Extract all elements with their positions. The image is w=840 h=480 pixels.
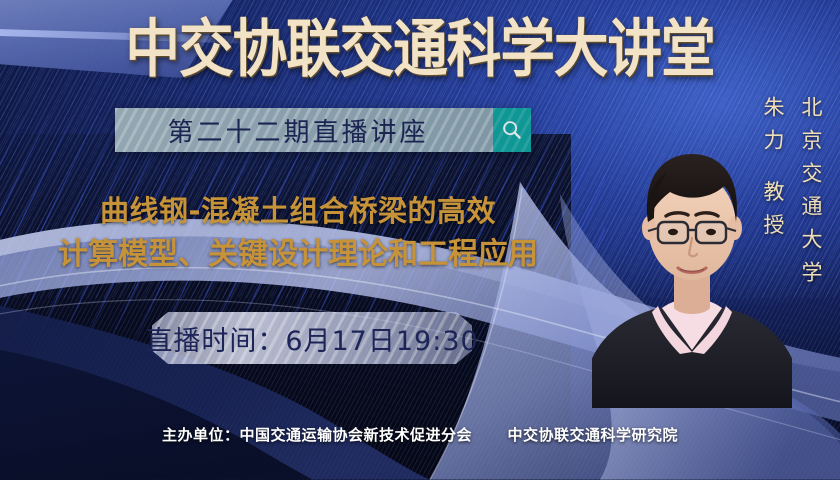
speaker-organization: 北京交通大学 bbox=[796, 96, 826, 294]
host-line: 主办单位：中国交通运输协会新技术促进分会 中交协联交通科学研究院 bbox=[0, 424, 840, 445]
lecture-title: 曲线钢-混凝土组合桥梁的高效 计算模型、关键设计理论和工程应用 bbox=[8, 190, 588, 276]
page-title: 中交协联交通科学大讲堂 bbox=[0, 14, 840, 87]
broadcast-time-badge: 直播时间：6月17日19:30 bbox=[152, 312, 472, 364]
poster-canvas: 中交协联交通科学大讲堂 第二十二期直播讲座 曲线钢-混凝土组合桥梁的高效 计算模… bbox=[0, 0, 840, 480]
lecture-title-line1: 曲线钢-混凝土组合桥梁的高效 bbox=[8, 190, 588, 233]
lecture-title-line2: 计算模型、关键设计理论和工程应用 bbox=[8, 233, 588, 276]
broadcast-time-label: 直播时间：6月17日19:30 bbox=[145, 319, 478, 358]
host-line-suffix: 中交协联交通科学研究院 bbox=[507, 426, 678, 444]
search-button[interactable] bbox=[493, 108, 531, 152]
episode-banner-label: 第二十二期直播讲座 bbox=[167, 112, 428, 149]
host-line-prefix: 主办单位：中国交通运输协会新技术促进分会 bbox=[162, 426, 472, 444]
speaker-name: 朱力 教授 bbox=[758, 96, 788, 247]
episode-banner[interactable]: 第二十二期直播讲座 bbox=[115, 108, 531, 152]
search-icon bbox=[501, 119, 523, 141]
episode-banner-bar: 第二十二期直播讲座 bbox=[115, 108, 493, 152]
